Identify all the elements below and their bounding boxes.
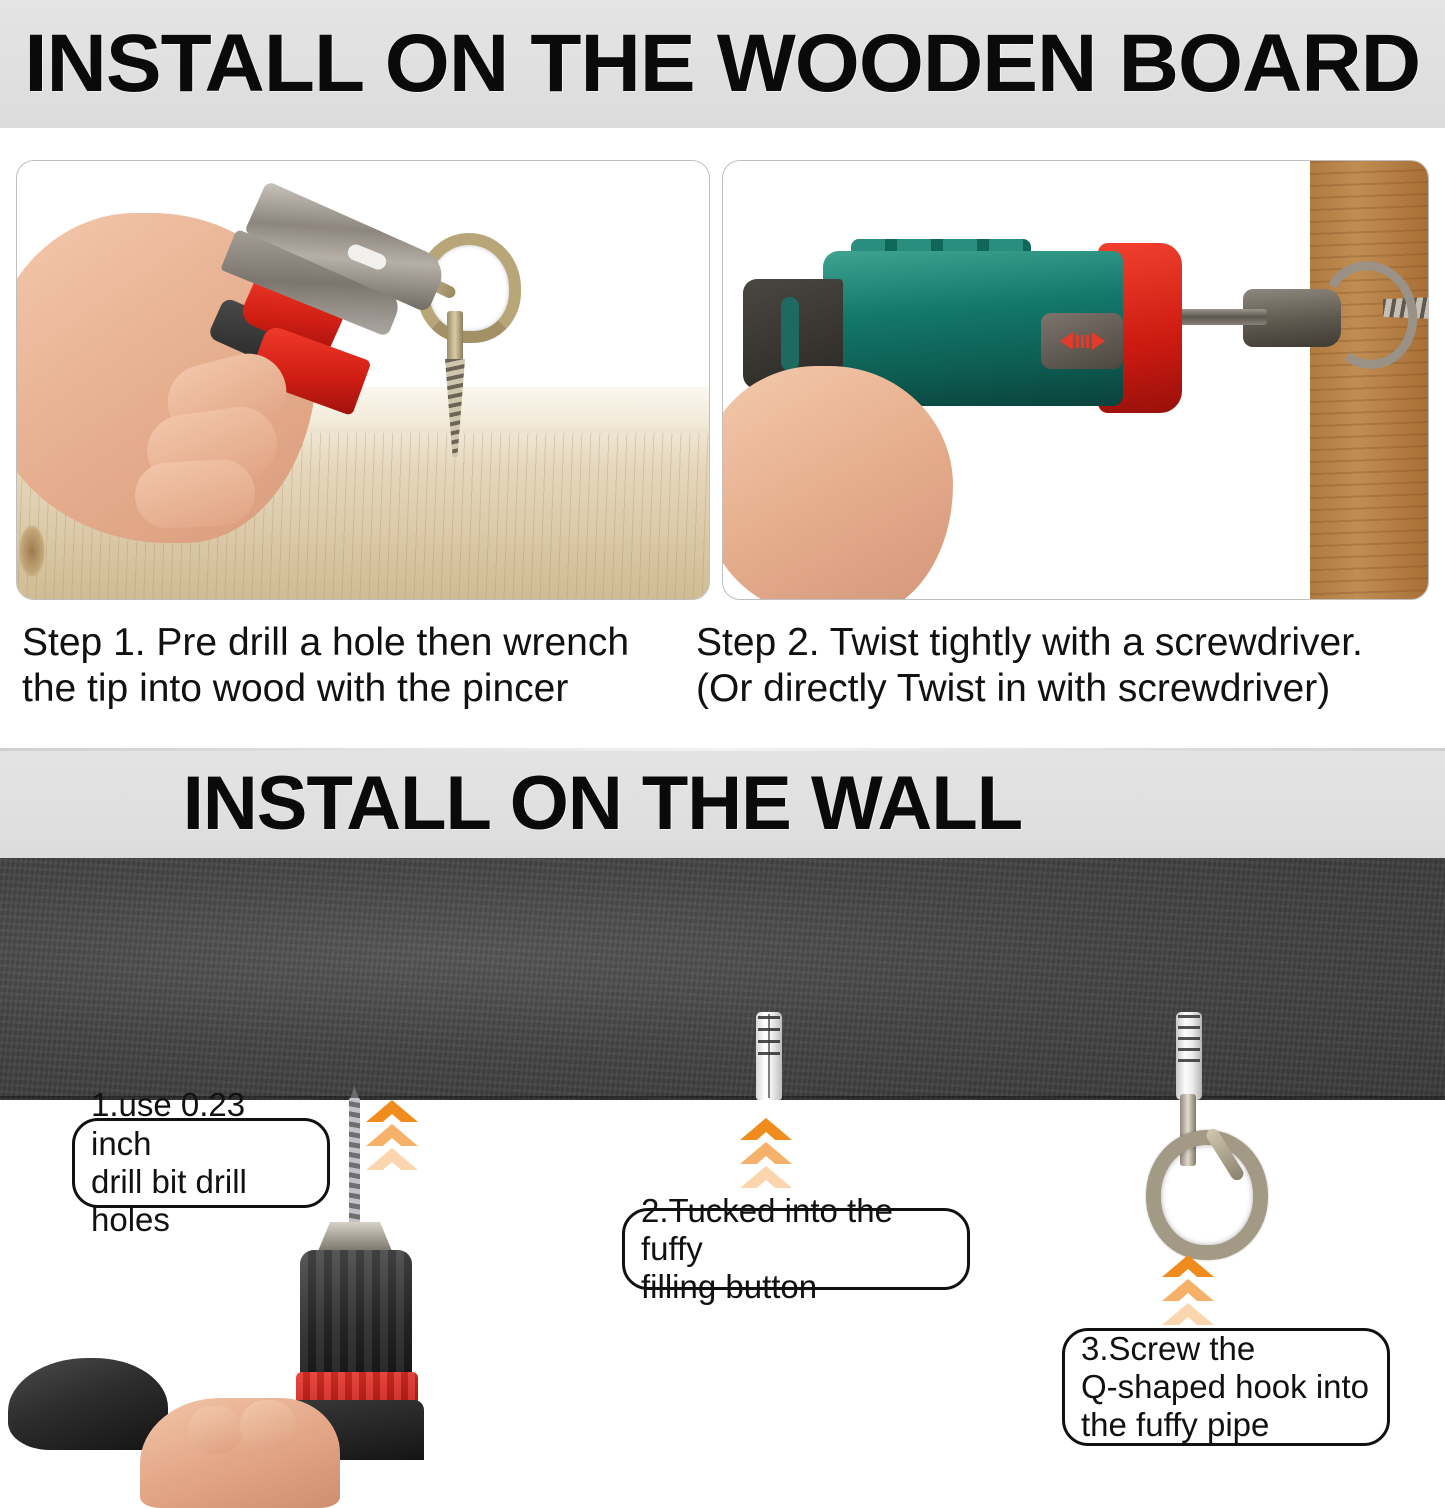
chevron-up-icon (1162, 1255, 1214, 1277)
wall-plug-anchor-center (756, 1012, 782, 1100)
concrete-wall (0, 858, 1445, 1100)
chevron-up-icon (1162, 1279, 1214, 1301)
chevron-up-icon (740, 1118, 792, 1140)
finger-ring (133, 458, 256, 530)
wall-plug-seam (768, 1014, 770, 1098)
chevron-up-icon-group-1 (366, 1100, 418, 1170)
callout-step-1-drill-holes: 1.use 0.23 inch drill bit drill holes (72, 1118, 330, 1208)
wooden-post (1310, 161, 1428, 600)
banner-install-on-wooden-board: INSTALL ON THE WOODEN BOARD (0, 0, 1445, 128)
arrow-left-icon (1060, 332, 1073, 350)
bottom-hand-knuckle-1 (188, 1406, 242, 1454)
arrow-right-icon (1092, 332, 1105, 350)
banner-title-wall: INSTALL ON THE WALL (183, 760, 1022, 847)
hand-holding-bottom-drill (140, 1398, 340, 1508)
bottom-drill-battery (8, 1358, 168, 1450)
chevron-up-icon (740, 1166, 792, 1188)
wall-q-shaped-hook (1146, 1130, 1268, 1260)
chevron-up-icon-group-2 (740, 1118, 792, 1188)
switch-bars-icon (1076, 335, 1089, 348)
chevron-up-icon (740, 1142, 792, 1164)
chevron-up-icon (366, 1148, 418, 1170)
chevron-up-icon (366, 1100, 418, 1122)
chevron-up-icon (366, 1124, 418, 1146)
photo-panel-step-2 (722, 160, 1429, 600)
drill-vent-slot (781, 297, 799, 371)
callout-step-2-wall-plug: 2.Tucked into the fuffy filling button (622, 1208, 970, 1290)
caption-step-1: Step 1. Pre drill a hole then wrench the… (22, 620, 702, 712)
wood-knot (19, 525, 45, 577)
bottom-hand-knuckle-2 (240, 1400, 296, 1450)
wall-plug-ribs-right (1178, 1015, 1200, 1063)
drill-shaft (1175, 309, 1267, 325)
chevron-up-icon-group-3 (1162, 1255, 1214, 1325)
callout-step-3-screw-hook: 3.Screw the Q-shaped hook into the fuffy… (1062, 1328, 1390, 1446)
drill-direction-switch (1041, 313, 1123, 369)
drill-bit-shaft (349, 1098, 360, 1228)
photo-panel-step-1 (16, 160, 710, 600)
bottom-drill-chuck (300, 1250, 412, 1380)
eye-hook-shank (447, 311, 463, 367)
chevron-up-icon (1162, 1303, 1214, 1325)
wall-plug-anchor-right (1176, 1012, 1202, 1100)
banner-install-on-wall: INSTALL ON THE WALL (0, 748, 1445, 858)
caption-step-2: Step 2. Twist tightly with a screwdriver… (696, 620, 1436, 712)
banner-title-wooden: INSTALL ON THE WOODEN BOARD (25, 17, 1421, 111)
